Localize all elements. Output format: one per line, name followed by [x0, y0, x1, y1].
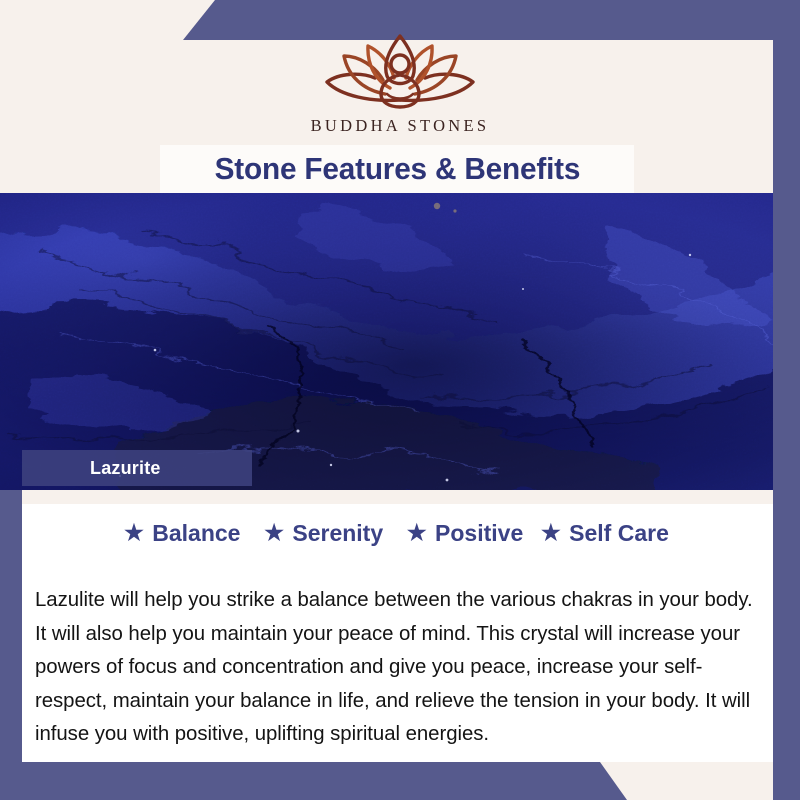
stone-name-label: Lazurite	[90, 458, 161, 479]
star-icon: ★	[124, 520, 144, 545]
benefit-keyword-balance: Balance	[152, 520, 240, 546]
stone-name-band: Lazurite	[22, 450, 252, 486]
page-title: Stone Features & Benefits	[214, 151, 580, 187]
star-icon: ★	[407, 520, 427, 545]
corner-accent-bottom	[0, 762, 800, 800]
star-icon: ★	[541, 520, 561, 545]
benefit-keywords-row: ★ Balance ★ Serenity ★ Positive ★ Self C…	[22, 520, 773, 547]
brand-logo: BUDDHA STONES	[270, 22, 530, 136]
page-title-band: Stone Features & Benefits	[160, 145, 634, 193]
benefits-card: ★ Balance ★ Serenity ★ Positive ★ Self C…	[22, 490, 773, 762]
lazurite-stone-photo	[0, 193, 800, 490]
benefit-keyword-positive: Positive	[435, 520, 523, 546]
border-accent-right	[773, 0, 800, 800]
benefit-keyword-serenity: Serenity	[292, 520, 383, 546]
benefit-keyword-self-care: Self Care	[569, 520, 669, 546]
border-accent-left	[0, 490, 22, 800]
brand-name: BUDDHA STONES	[270, 116, 530, 136]
lotus-meditation-figure-icon	[305, 22, 495, 114]
poster-canvas: BUDDHA STONES	[0, 0, 800, 800]
stone-description: Lazulite will help you strike a balance …	[35, 584, 762, 752]
stone-texture	[0, 193, 800, 490]
star-icon: ★	[264, 520, 284, 545]
